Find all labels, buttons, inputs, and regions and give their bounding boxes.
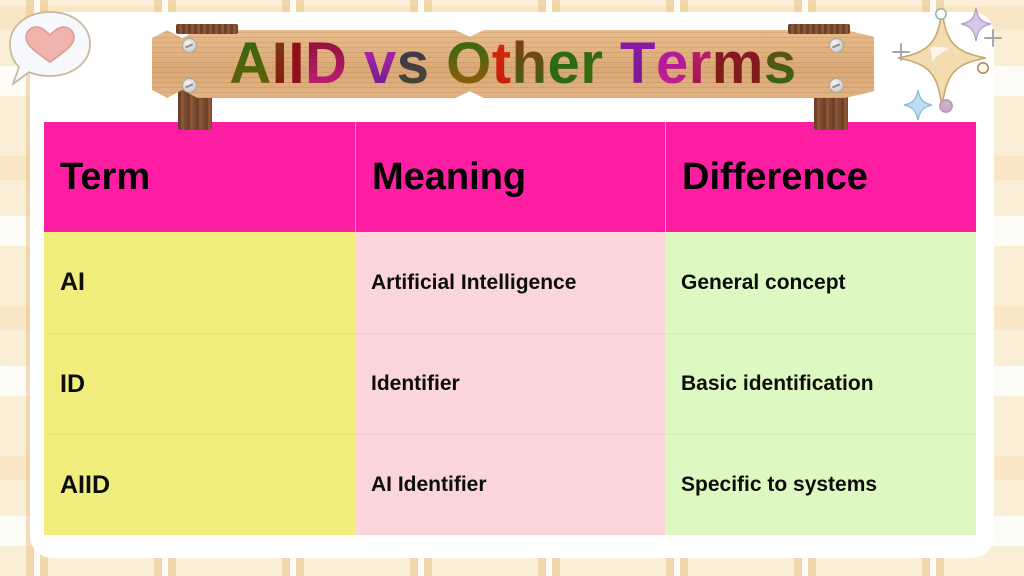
table-row: AI Artificial Intelligence General conce… — [44, 232, 976, 333]
cell-difference: Basic identification — [665, 333, 976, 434]
title-letter: T — [620, 35, 656, 93]
title-letter: e — [548, 35, 581, 93]
cell-term: AIID — [44, 434, 355, 535]
title-letter: r — [689, 35, 712, 93]
column-header-term: Term — [44, 122, 355, 232]
title-letter: h — [512, 35, 548, 93]
page-title: AIID vs Other Terms — [152, 30, 874, 98]
title-letter — [430, 35, 447, 93]
heart-speech-bubble-icon — [4, 4, 96, 96]
title-letter: e — [656, 35, 689, 93]
cell-difference: Specific to systems — [665, 434, 976, 535]
title-letter: s — [397, 35, 430, 93]
title-letter: m — [712, 35, 764, 93]
cell-meaning: Identifier — [355, 333, 665, 434]
comparison-table: Term Meaning Difference AI Artificial In… — [44, 122, 976, 537]
cell-term: AI — [44, 232, 355, 333]
wooden-sign-banner: AIID vs Other Terms — [152, 16, 874, 108]
title-letter: v — [364, 35, 397, 93]
cell-difference: General concept — [665, 232, 976, 333]
title-letter: s — [764, 35, 797, 93]
table-header-row: Term Meaning Difference — [44, 122, 976, 232]
sparkle-cluster-icon — [870, 2, 1010, 120]
title-letter: t — [492, 35, 512, 93]
title-letter: I — [272, 35, 289, 93]
cell-meaning: AI Identifier — [355, 434, 665, 535]
title-letter: A — [229, 35, 271, 93]
column-header-difference: Difference — [665, 122, 976, 232]
table-row: AIID AI Identifier Specific to systems — [44, 434, 976, 535]
table-row: ID Identifier Basic identification — [44, 333, 976, 434]
title-letter — [603, 35, 620, 93]
column-header-meaning: Meaning — [355, 122, 665, 232]
title-letter: I — [288, 35, 305, 93]
cell-meaning: Artificial Intelligence — [355, 232, 665, 333]
title-letter — [347, 35, 364, 93]
title-letter: D — [305, 35, 347, 93]
title-letter: r — [580, 35, 603, 93]
title-letter: O — [446, 35, 492, 93]
cell-term: ID — [44, 333, 355, 434]
